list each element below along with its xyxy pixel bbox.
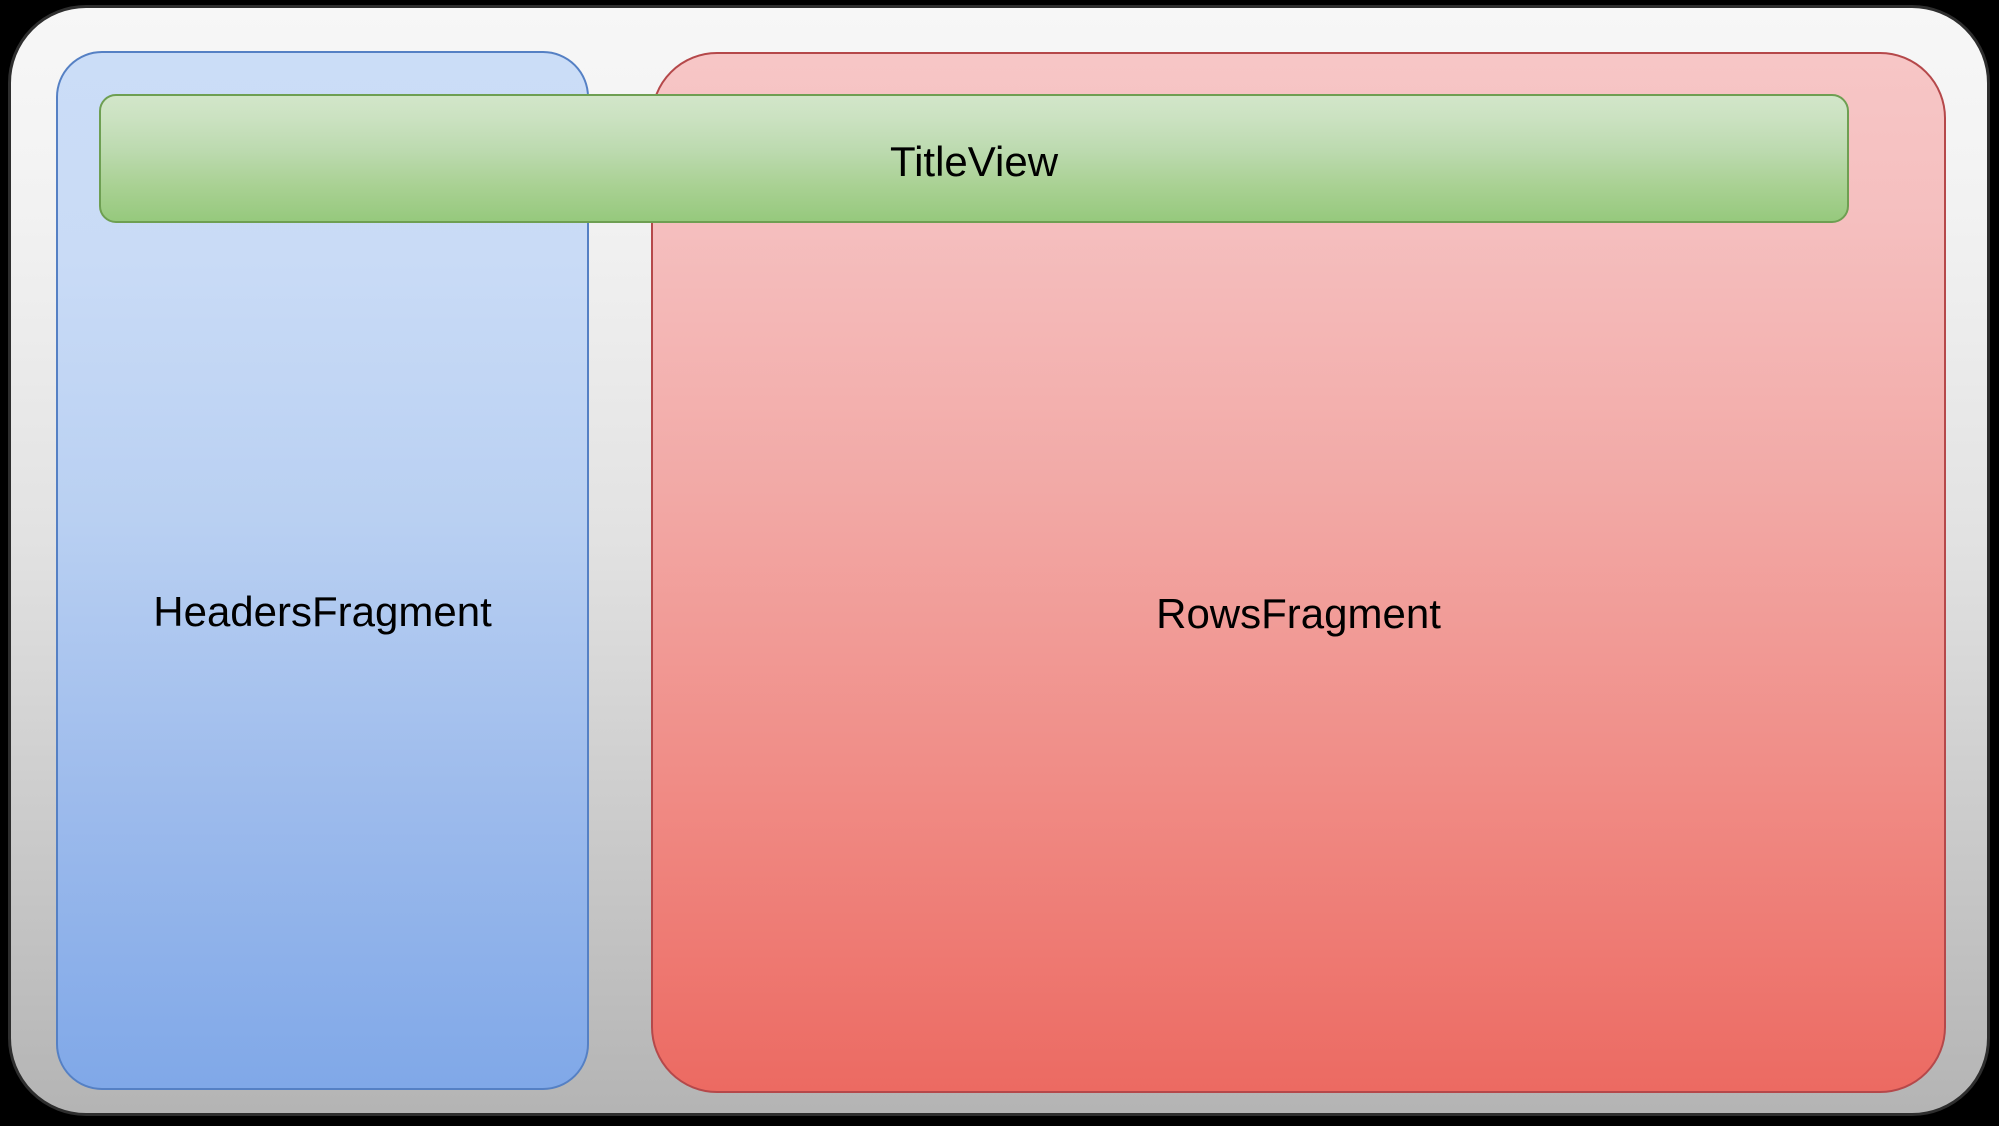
headers-fragment-label: HeadersFragment — [58, 586, 587, 638]
rows-fragment-label: RowsFragment — [653, 588, 1944, 640]
title-view-label: TitleView — [101, 136, 1847, 188]
diagram-canvas: HeadersFragment RowsFragment TitleView — [0, 0, 1999, 1126]
browse-fragment-container: HeadersFragment RowsFragment TitleView — [8, 5, 1990, 1116]
title-view-bar[interactable]: TitleView — [99, 94, 1849, 223]
